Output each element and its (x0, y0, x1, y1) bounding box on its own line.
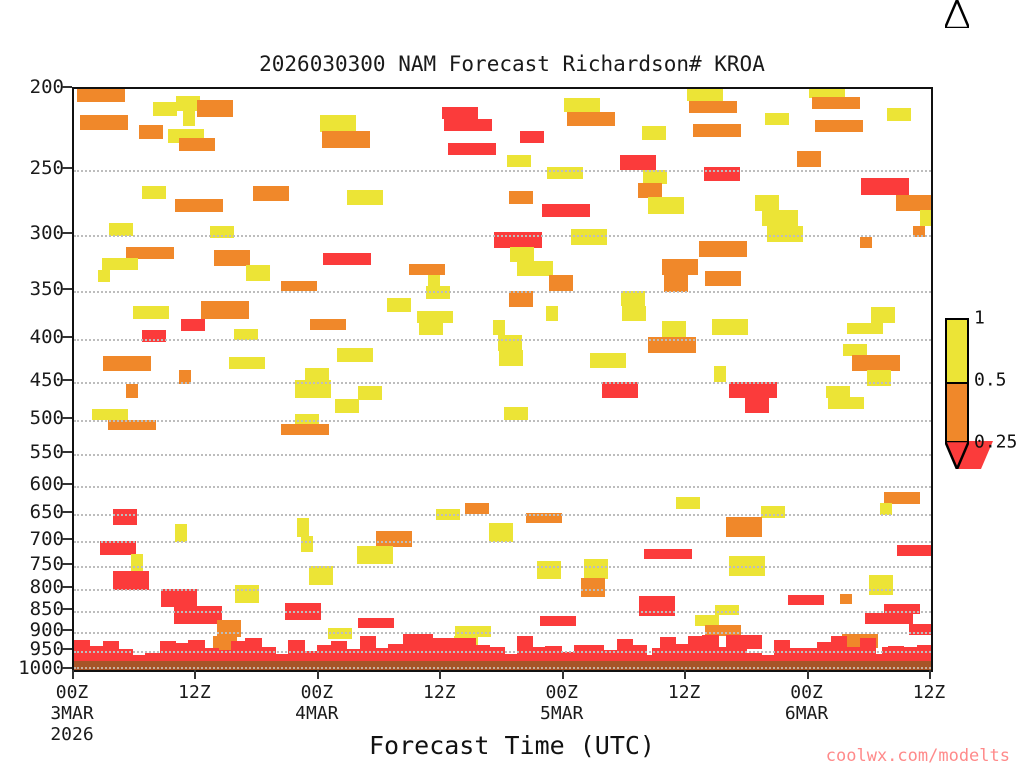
heatmap-cell (337, 348, 373, 362)
heatmap-cell (322, 131, 370, 148)
heatmap-cell (542, 204, 590, 218)
heatmap-cell (540, 616, 576, 627)
heatmap-cell (181, 319, 205, 331)
heatmap-cell (643, 170, 667, 184)
heatmap-cell (852, 355, 900, 371)
heatmap-cell (920, 210, 931, 226)
colorbar-tick-label: 0.5 (974, 370, 1007, 391)
y-axis-tick-label: 350 (30, 278, 64, 300)
y-axis-tick-label: 550 (30, 441, 64, 463)
heatmap-cell (729, 382, 777, 398)
heatmap-cell (745, 397, 769, 413)
heatmap-cell (517, 261, 553, 276)
x-axis-tick-label: 12Z (423, 682, 456, 703)
heatmap-cell (861, 178, 909, 195)
heatmap-cell (765, 113, 789, 125)
heatmap-cell (622, 306, 646, 321)
y-axis-tick-label: 400 (30, 326, 64, 348)
heatmap-cell (214, 250, 250, 266)
heatmap-cell (705, 271, 741, 286)
heatmap-cell (335, 399, 359, 413)
chart-page: 2026030300 NAM Forecast Richardson# KROA… (0, 0, 1024, 768)
heatmap-cell (328, 628, 352, 639)
heatmap-cell (494, 232, 542, 248)
heatmap-cell (323, 253, 371, 265)
heatmap-cell (234, 329, 258, 340)
chart-title: 2026030300 NAM Forecast Richardson# KROA (0, 52, 1024, 76)
heatmap-cell (493, 320, 505, 335)
heatmap-cell (113, 571, 149, 590)
heatmap-cell (161, 589, 197, 606)
heatmap-cell (77, 89, 125, 102)
heatmap-cell (285, 603, 321, 621)
heatmap-cell (179, 138, 215, 151)
heatmap-cell (638, 183, 662, 197)
heatmap-cell (499, 350, 523, 366)
heatmap-cells (74, 89, 931, 670)
heatmap-cell (310, 319, 346, 330)
heatmap-cell (788, 595, 824, 606)
heatmap-cell (179, 370, 191, 384)
heatmap-cell (253, 186, 289, 200)
y-axis-tick-label: 700 (30, 528, 64, 550)
heatmap-cell (131, 554, 143, 571)
heatmap-cell (828, 397, 864, 409)
heatmap-cell (510, 247, 534, 262)
heatmap-cell (426, 286, 450, 299)
heatmap-cell (210, 226, 234, 239)
heatmap-cell (767, 226, 803, 242)
heatmap-cell (197, 100, 233, 118)
heatmap-cell (113, 509, 137, 525)
colorbar (945, 318, 969, 442)
heatmap-cell (109, 223, 133, 236)
heatmap-cell (639, 596, 675, 616)
heatmap-cell (715, 605, 739, 616)
heatmap-cell (602, 382, 638, 398)
heatmap-cell (590, 353, 626, 368)
heatmap-cell (620, 155, 656, 171)
heatmap-cell (295, 414, 319, 425)
heatmap-cell (549, 275, 573, 291)
heatmap-cell (729, 556, 765, 576)
heatmap-cell (687, 89, 723, 101)
heatmap-cell (301, 536, 313, 552)
y-axis-tick-label: 800 (30, 576, 64, 598)
heatmap-cell (547, 167, 583, 180)
heatmap-cell (417, 311, 453, 323)
heatmap-cell (871, 307, 895, 323)
heatmap-cell (676, 497, 700, 509)
heatmap-cell (175, 524, 187, 541)
heatmap-cell (126, 384, 138, 398)
heatmap-cell (409, 264, 445, 276)
heatmap-cell (567, 112, 615, 126)
heatmap-cell (865, 613, 913, 624)
heatmap-cell (357, 546, 393, 564)
heatmap-cell (546, 306, 558, 321)
colorbar-band (947, 320, 967, 382)
heatmap-cell (564, 98, 600, 112)
y-axis-tick-label: 200 (30, 76, 64, 98)
x-axis-tick-label: 00Z4MAR (295, 682, 338, 724)
heatmap-cell (281, 281, 317, 292)
heatmap-cell (867, 370, 891, 386)
x-axis-tick-label: 00Z6MAR (785, 682, 828, 724)
heatmap-cell (860, 237, 872, 249)
heatmap-cell (100, 541, 136, 555)
heatmap-cell (662, 259, 698, 276)
heatmap-cell (80, 115, 128, 129)
heatmap-cell (913, 226, 925, 238)
heatmap-cell (520, 131, 544, 144)
heatmap-cell (526, 513, 562, 523)
heatmap-cell (235, 585, 259, 603)
heatmap-cell (455, 626, 491, 637)
y-axis-tick-label: 500 (30, 407, 64, 429)
x-axis-tick-label: 12Z (178, 682, 211, 703)
heatmap-cell (358, 386, 382, 400)
heatmap-cell (507, 155, 531, 168)
heatmap-cell (648, 197, 684, 214)
heatmap-cell (797, 151, 821, 167)
y-axis-tick-label: 1000 (18, 657, 64, 679)
heatmap-cell (581, 578, 605, 597)
heatmap-cell (880, 503, 892, 515)
heatmap-cell (584, 559, 608, 579)
heatmap-cell (92, 409, 128, 421)
heatmap-cell (489, 523, 513, 542)
heatmap-cell (320, 115, 356, 132)
heatmap-cell (695, 615, 719, 626)
heatmap-cell (387, 298, 411, 311)
y-axis-tick-label: 850 (30, 598, 64, 620)
heatmap-cell (419, 323, 443, 335)
heatmap-cell (436, 509, 460, 521)
colorbar-cap-top-outline (945, 0, 969, 28)
heatmap-cell (909, 624, 931, 635)
heatmap-cell (644, 549, 692, 560)
heatmap-cell (662, 321, 686, 338)
heatmap-cell (295, 380, 331, 398)
heatmap-cell (246, 265, 270, 281)
heatmap-cell (537, 561, 561, 578)
heatmap-cell (689, 101, 737, 113)
y-axis-tick-label: 600 (30, 473, 64, 495)
heatmap-cell (755, 195, 779, 211)
heatmap-cell (648, 337, 696, 354)
heatmap-cell (309, 566, 333, 585)
heatmap-cell (726, 517, 762, 536)
heatmap-cell (509, 191, 533, 205)
heatmap-cell (183, 111, 195, 126)
plot-area (72, 87, 933, 672)
heatmap-cell (642, 126, 666, 140)
heatmap-cell (840, 594, 852, 604)
heatmap-cell (142, 330, 166, 342)
x-axis-ticks (72, 670, 933, 680)
heatmap-cell (884, 492, 920, 504)
heatmap-cell (869, 575, 893, 595)
heatmap-cell (897, 545, 931, 556)
watermark: coolwx.com/modelts (0, 746, 1010, 766)
y-axis-tick-label: 300 (30, 222, 64, 244)
heatmap-cell (108, 420, 156, 430)
y-axis-tick-label: 650 (30, 501, 64, 523)
heatmap-cell (126, 247, 174, 259)
heatmap-cell (887, 108, 911, 120)
heatmap-cell (281, 424, 329, 435)
heatmap-cell (358, 618, 394, 629)
heatmap-cell (102, 258, 138, 270)
heatmap-cell (142, 186, 166, 199)
heatmap-cell (826, 386, 850, 398)
heatmap-cell (705, 625, 741, 636)
heatmap-cell (376, 531, 412, 547)
heatmap-cell (509, 291, 533, 307)
heatmap-cell (896, 195, 931, 211)
heatmap-cell (812, 97, 860, 109)
heatmap-cell (714, 366, 726, 383)
heatmap-cell (465, 503, 489, 513)
heatmap-cell (139, 125, 163, 138)
x-axis-tick-label: 12Z (913, 682, 946, 703)
heatmap-cell (103, 356, 151, 371)
heatmap-cell (174, 606, 222, 624)
heatmap-cell (762, 210, 798, 226)
heatmap-cell (847, 323, 883, 334)
heatmap-cell (815, 120, 863, 132)
colorbar-tick-label: 1 (974, 308, 985, 329)
heatmap-cell (571, 229, 607, 244)
heatmap-cell (699, 241, 747, 257)
x-axis-tick-label: 00Z5MAR (540, 682, 583, 724)
y-axis-labels: 2002503003504004505005506006507007508008… (0, 87, 64, 668)
heatmap-cell (175, 199, 223, 212)
heatmap-cell (704, 167, 740, 182)
heatmap-cell (305, 368, 329, 380)
heatmap-cell (201, 301, 249, 319)
heatmap-cell (693, 124, 741, 136)
heatmap-cell (442, 107, 478, 120)
heatmap-cell (761, 506, 785, 518)
heatmap-cell (98, 270, 110, 282)
heatmap-cell (428, 275, 440, 287)
heatmap-cell (229, 357, 265, 369)
heatmap-cell (217, 620, 241, 637)
heatmap-cell (444, 119, 492, 132)
heatmap-cell (153, 102, 177, 116)
heatmap-cell (504, 407, 528, 421)
heatmap-cell (448, 143, 496, 156)
heatmap-cell (347, 190, 383, 204)
heatmap-cell (297, 518, 309, 537)
y-axis-tick-label: 450 (30, 369, 64, 391)
x-axis-tick-label: 12Z (668, 682, 701, 703)
heatmap-cell (664, 275, 688, 292)
heatmap-cell (917, 645, 931, 661)
colorbar-tick-label: 0.25 (974, 432, 1017, 453)
heatmap-cell (133, 306, 169, 319)
heatmap-cell (843, 344, 867, 355)
heatmap-cell (621, 291, 645, 306)
heatmap-cell (712, 319, 748, 335)
colorbar-cap-top (945, 290, 993, 318)
colorbar-cap-bottom-outline (945, 441, 969, 469)
y-axis-tick-label: 750 (30, 553, 64, 575)
heatmap-cell (498, 335, 522, 351)
colorbar-band (947, 382, 967, 446)
y-axis-tick-label: 250 (30, 157, 64, 179)
